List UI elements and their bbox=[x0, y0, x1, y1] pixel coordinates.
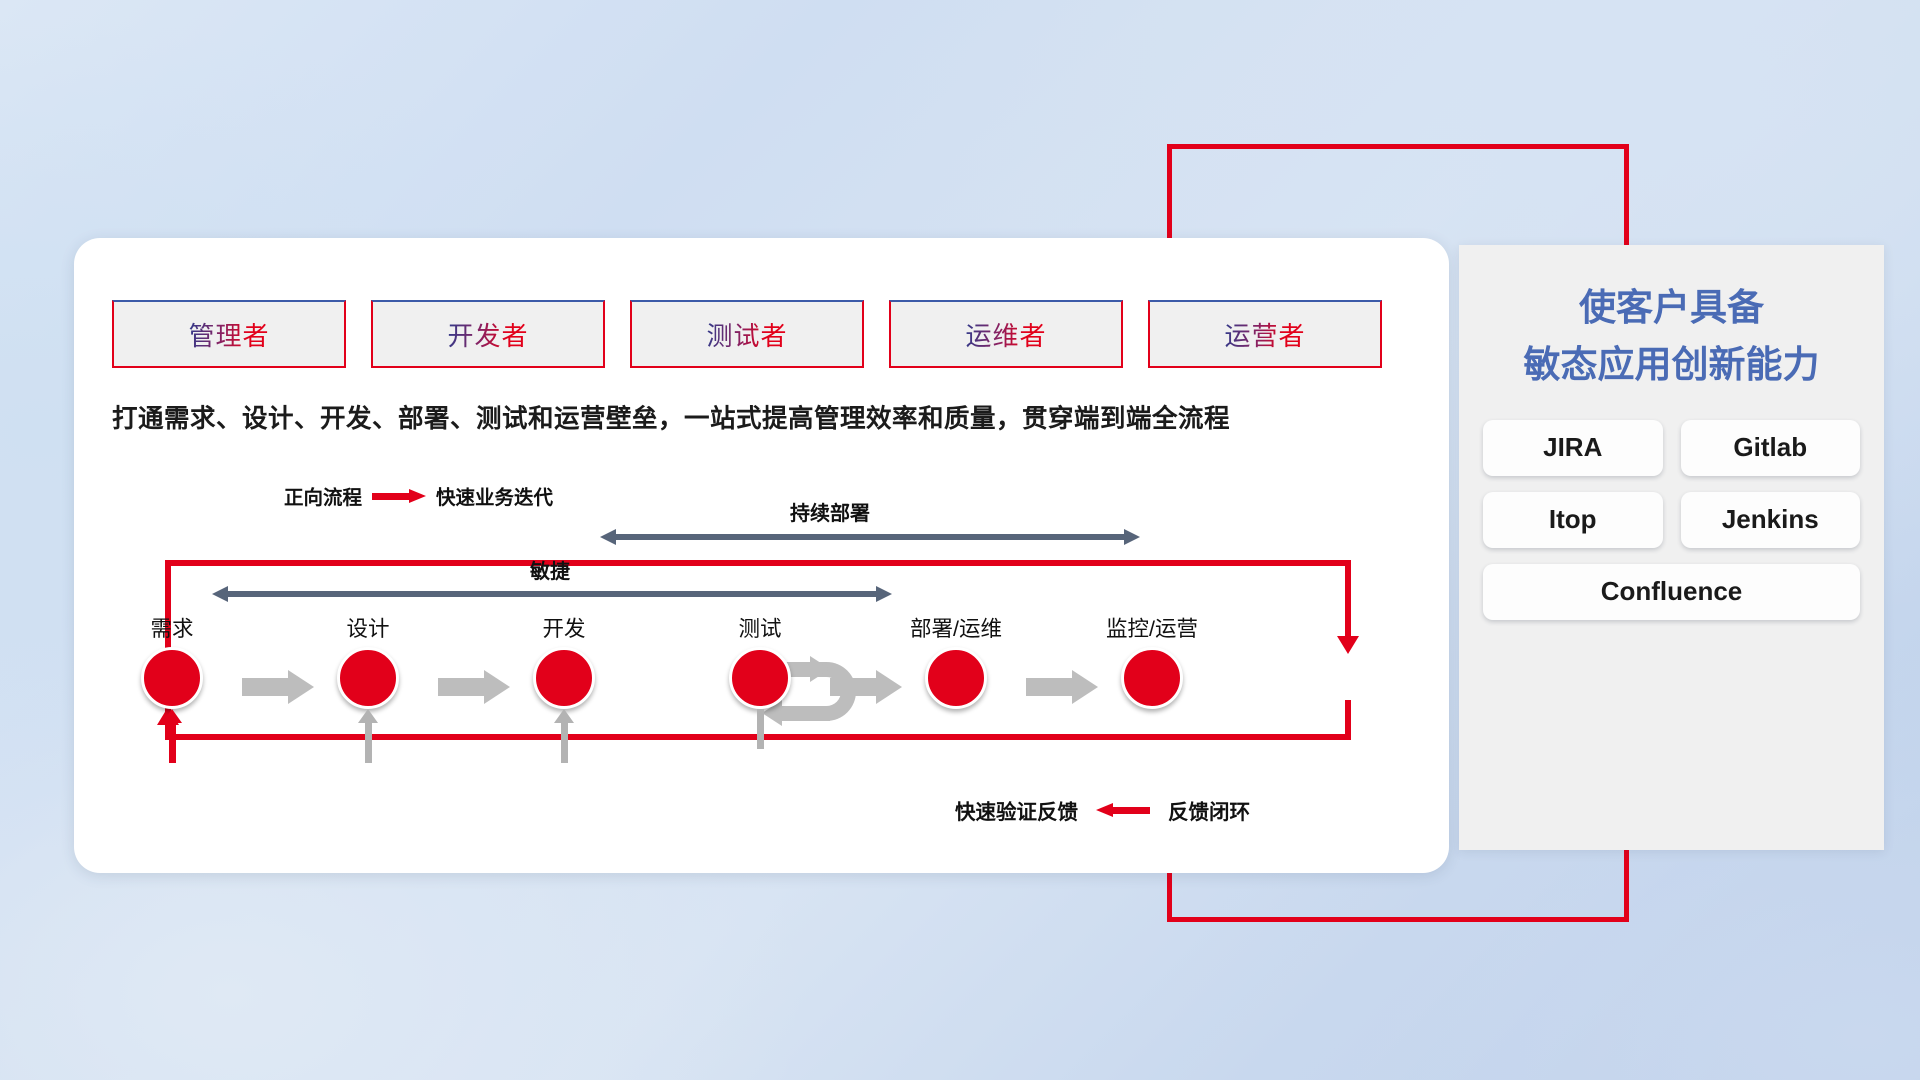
legend-feedback-left-label: 快速验证反馈 bbox=[955, 795, 1078, 825]
legend-forward-flow: 正向流程 快速业务迭代 bbox=[284, 481, 553, 510]
legend-forward-left-label: 正向流程 bbox=[284, 481, 362, 510]
stage-stem-cap-icon bbox=[554, 709, 574, 723]
panel-title-line2: 敏态应用创新能力 bbox=[1459, 336, 1884, 393]
connector-arrow-icon bbox=[242, 670, 314, 704]
legend-feedback-loop: 快速验证反馈 反馈闭环 bbox=[955, 795, 1250, 825]
stage-stem bbox=[365, 723, 372, 763]
roles-row: 管理者 开发者 测试者 运维者 运营者 bbox=[112, 300, 1382, 368]
role-box-ops[interactable]: 运维者 bbox=[889, 300, 1123, 368]
stage-stem-cap-icon bbox=[162, 709, 182, 723]
connector-arrow-icon bbox=[1026, 670, 1098, 704]
role-label: 开发者 bbox=[447, 316, 528, 353]
role-box-tester[interactable]: 测试者 bbox=[630, 300, 864, 368]
stage-label: 开发 bbox=[504, 612, 624, 643]
role-label: 运维者 bbox=[965, 316, 1046, 353]
connector-arrow-icon bbox=[830, 670, 902, 704]
span-arrow-agile-icon bbox=[212, 586, 892, 602]
panel-title: 使客户具备 敏态应用创新能力 bbox=[1459, 279, 1884, 394]
stage-label: 监控/运营 bbox=[1092, 612, 1212, 643]
stage-stem-cap-icon bbox=[358, 709, 378, 723]
stage-testing[interactable]: 测试 bbox=[700, 612, 820, 749]
tool-chip-jira[interactable]: JIRA bbox=[1483, 420, 1663, 476]
stage-label: 测试 bbox=[700, 612, 820, 643]
stage-label: 部署/运维 bbox=[896, 612, 1016, 643]
stage-dot bbox=[141, 647, 203, 709]
stage-monitor-operations[interactable]: 监控/运营 bbox=[1092, 612, 1212, 709]
span-label-agile: 敏捷 bbox=[530, 555, 570, 584]
stage-requirements[interactable]: 需求 bbox=[112, 612, 232, 763]
stage-stem bbox=[561, 723, 568, 763]
tool-grid: JIRA Gitlab Itop Jenkins Confluence bbox=[1483, 420, 1860, 620]
role-label: 管理者 bbox=[188, 316, 269, 353]
panel-title-line1: 使客户具备 bbox=[1459, 279, 1884, 336]
stage-design[interactable]: 设计 bbox=[308, 612, 428, 763]
stage-deploy-ops[interactable]: 部署/运维 bbox=[896, 612, 1016, 709]
stage-dot bbox=[925, 647, 987, 709]
role-label: 测试者 bbox=[706, 316, 787, 353]
arrow-left-red-icon bbox=[1096, 803, 1150, 817]
tool-chip-itop[interactable]: Itop bbox=[1483, 492, 1663, 548]
tool-chip-gitlab[interactable]: Gitlab bbox=[1681, 420, 1861, 476]
role-box-operations[interactable]: 运营者 bbox=[1148, 300, 1382, 368]
slide-canvas: 管理者 开发者 测试者 运维者 运营者 打通需求、设计、开发、部署、测试和运营壁… bbox=[0, 0, 1920, 1080]
stage-label: 需求 bbox=[112, 612, 232, 643]
role-box-manager[interactable]: 管理者 bbox=[112, 300, 346, 368]
stage-dot bbox=[337, 647, 399, 709]
role-label: 运营者 bbox=[1224, 316, 1305, 353]
stage-stem bbox=[757, 709, 764, 749]
stage-label: 设计 bbox=[308, 612, 428, 643]
stage-development[interactable]: 开发 bbox=[504, 612, 624, 763]
legend-forward-right-label: 快速业务迭代 bbox=[436, 481, 553, 510]
pipeline: 需求 设计 开发 bbox=[112, 612, 1412, 742]
legend-feedback-right-label: 反馈闭环 bbox=[1168, 795, 1250, 825]
role-box-developer[interactable]: 开发者 bbox=[371, 300, 605, 368]
feedback-loop-top-segment bbox=[165, 560, 1351, 566]
connector-arrow-icon bbox=[438, 670, 510, 704]
tool-chip-jenkins[interactable]: Jenkins bbox=[1681, 492, 1861, 548]
stage-dot bbox=[533, 647, 595, 709]
span-label-continuous-deploy: 持续部署 bbox=[790, 497, 870, 526]
subtitle-text: 打通需求、设计、开发、部署、测试和运营壁垒，一站式提高管理效率和质量，贯穿端到端… bbox=[112, 398, 1412, 435]
span-arrow-continuous-deploy-icon bbox=[600, 529, 1140, 545]
right-panel: 使客户具备 敏态应用创新能力 JIRA Gitlab Itop Jenkins … bbox=[1459, 245, 1884, 850]
arrow-right-red-icon bbox=[372, 489, 426, 503]
tool-chip-confluence[interactable]: Confluence bbox=[1483, 564, 1860, 620]
stage-stem bbox=[169, 723, 176, 763]
stage-dot bbox=[1121, 647, 1183, 709]
stage-dot bbox=[729, 647, 791, 709]
